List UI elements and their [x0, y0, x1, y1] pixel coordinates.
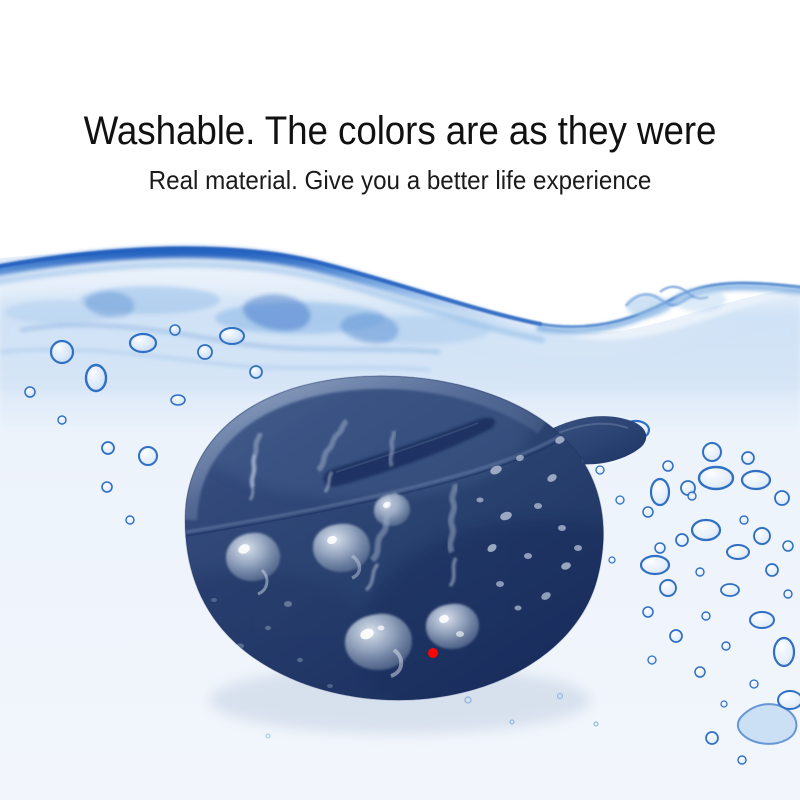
- product-case: [0, 0, 800, 800]
- earbuds-case-illustration: [0, 0, 800, 800]
- product-marketing-image: Washable. The colors are as they were Re…: [0, 0, 800, 800]
- charging-indicator-led: [428, 648, 438, 658]
- droplet: [426, 604, 479, 649]
- droplet: [313, 524, 370, 572]
